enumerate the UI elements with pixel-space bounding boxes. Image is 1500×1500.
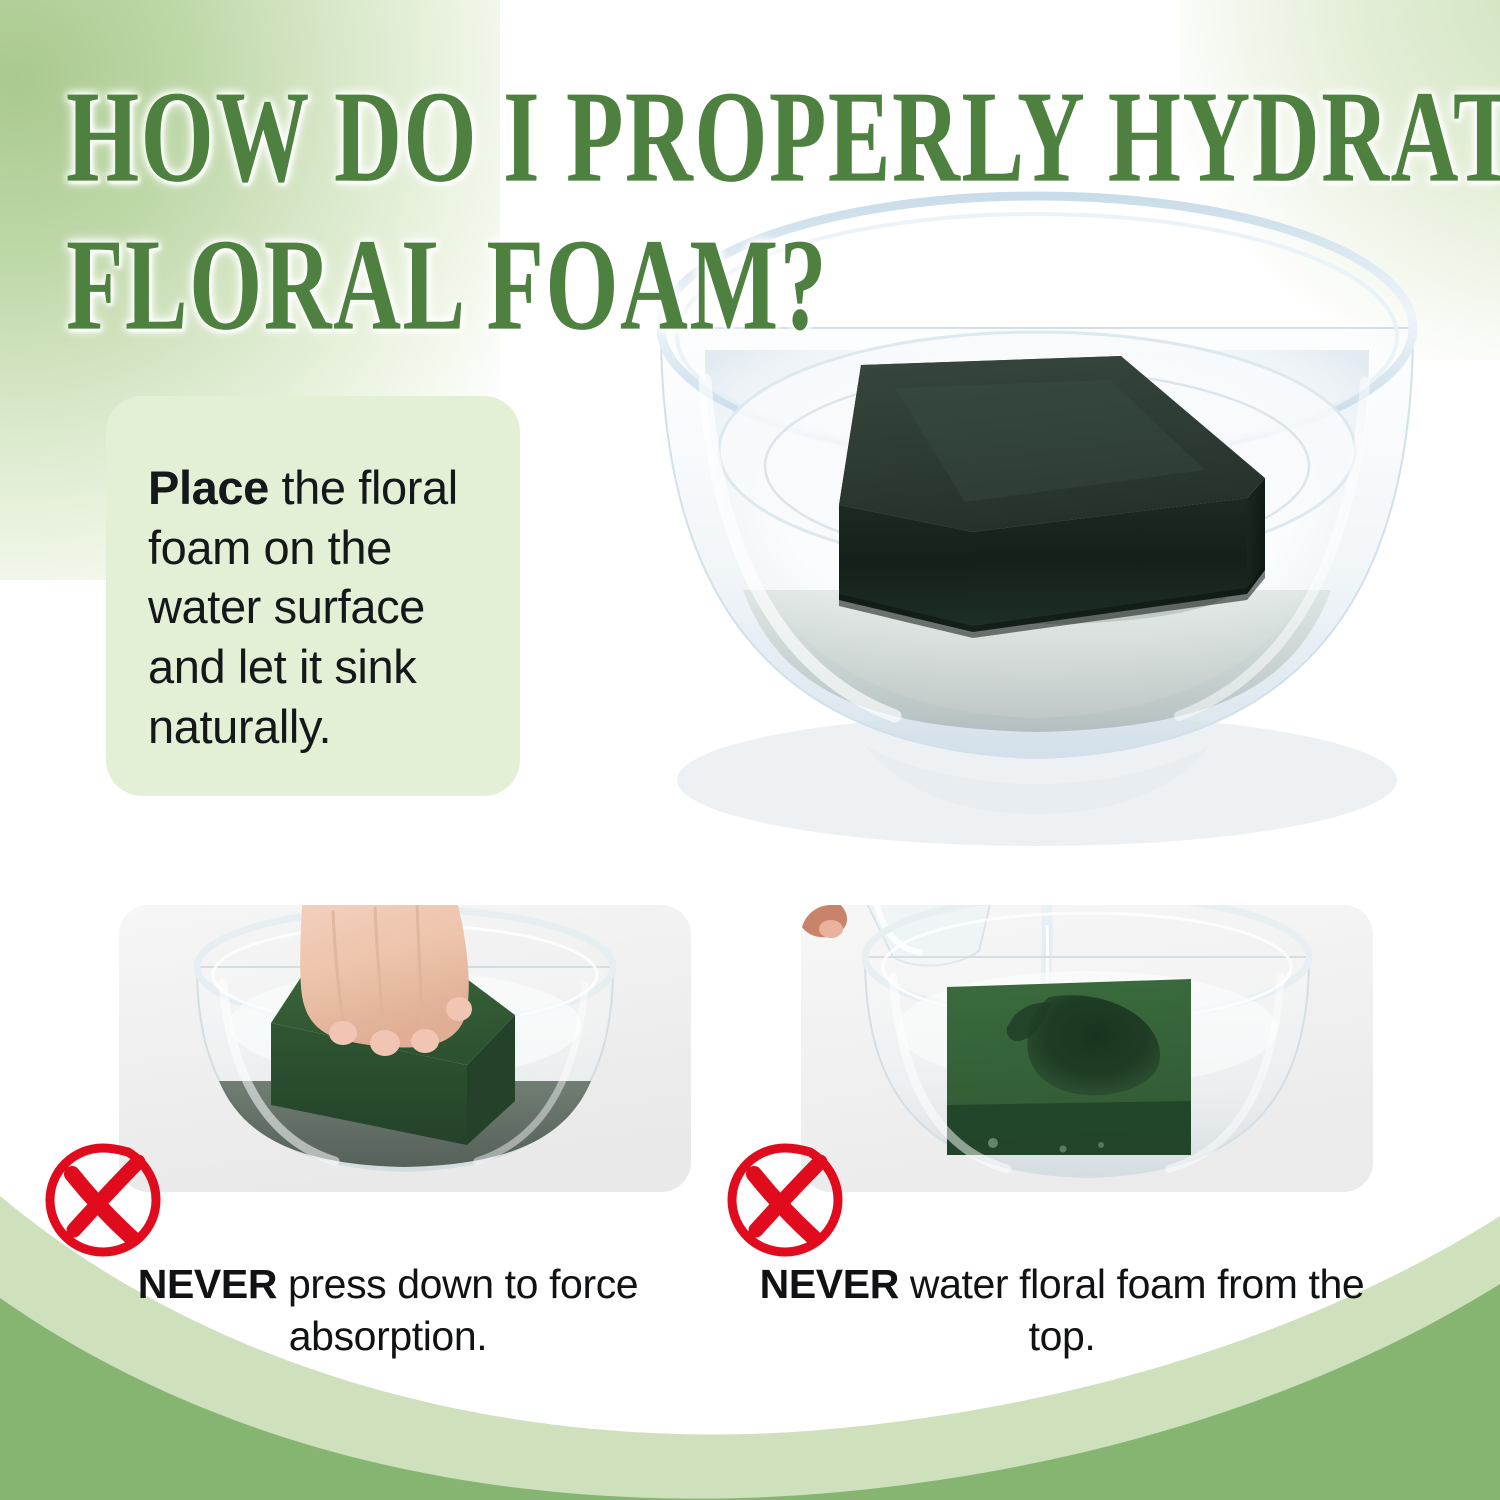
photo-pouring-water-on-foam bbox=[801, 905, 1373, 1192]
bubble-3 bbox=[1098, 1142, 1104, 1148]
photo-panel-never-water-from-top bbox=[801, 905, 1373, 1192]
red-x-circle-icon bbox=[724, 1138, 846, 1260]
red-x-circle-icon bbox=[42, 1138, 164, 1260]
red-x-circle-icon-left bbox=[42, 1138, 164, 1260]
title-line-1: HOW DO I PROPERLY HYDRATE bbox=[66, 64, 1400, 214]
caption-never-water-from-top: NEVER water floral foam from the top. bbox=[752, 1258, 1372, 1362]
page-title: HOW DO I PROPERLY HYDRATE FLORAL FOAM? bbox=[66, 64, 1456, 323]
caption-rest: water floral foam from the top. bbox=[899, 1261, 1364, 1359]
instruction-card: Place the floral foam on the water surfa… bbox=[106, 396, 520, 796]
red-x-circle-icon-right bbox=[724, 1138, 846, 1260]
thumbnail bbox=[819, 920, 843, 938]
instruction-text: Place the floral foam on the water surfa… bbox=[148, 458, 480, 756]
foam-block bbox=[947, 979, 1191, 1155]
photo-panel-never-press-down bbox=[119, 905, 691, 1192]
fingernail-3 bbox=[411, 1029, 439, 1053]
fingernail-4 bbox=[446, 997, 472, 1021]
fingernail-1 bbox=[329, 1021, 357, 1045]
instruction-emphasis: Place bbox=[148, 461, 269, 514]
fingernail-2 bbox=[370, 1030, 400, 1056]
infographic-poster: HOW DO I PROPERLY HYDRATE FLORAL FOAM? P… bbox=[0, 0, 1500, 1500]
foam-submerged-band bbox=[947, 1101, 1191, 1155]
bubble-2 bbox=[1060, 1146, 1067, 1153]
photo-hand-pressing-foam bbox=[119, 905, 691, 1192]
bubble-1 bbox=[988, 1138, 998, 1148]
caption-emphasis: NEVER bbox=[138, 1261, 277, 1307]
caption-emphasis: NEVER bbox=[760, 1261, 899, 1307]
title-line-2: FLORAL FOAM? bbox=[66, 212, 1400, 362]
caption-never-press-down: NEVER press down to force absorption. bbox=[78, 1258, 698, 1362]
caption-rest: press down to force absorption. bbox=[277, 1261, 638, 1359]
